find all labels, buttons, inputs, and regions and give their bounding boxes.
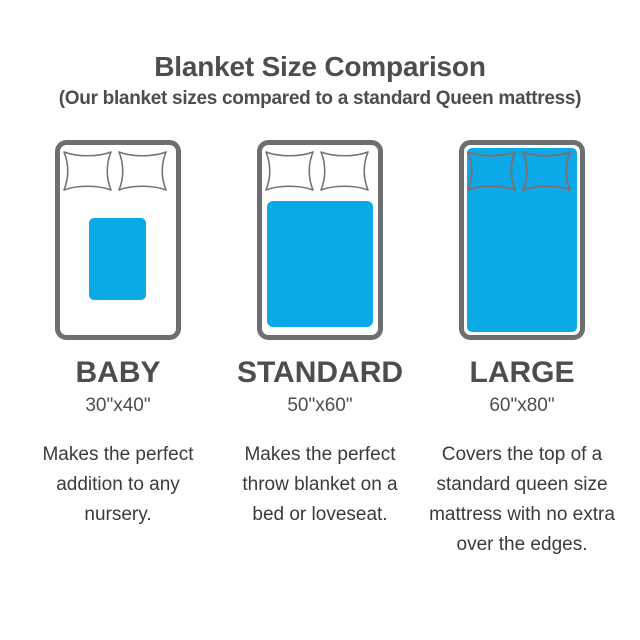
heading-block: Blanket Size Comparison (Our blanket siz… [0,50,640,112]
comparison-columns: BABY 30"x40" Makes the perfect addition … [0,140,640,560]
size-description-baby: Makes the perfect addition to any nurser… [23,440,213,530]
pillow-icon-right [321,152,368,190]
size-description-large: Covers the top of a standard queen size … [427,440,617,560]
pillow-icon-right [119,152,166,190]
page-subtitle: (Our blanket sizes compared to a standar… [0,86,640,112]
bed-diagram-baby [55,140,181,340]
bed-diagram-large [459,140,585,340]
pillow-icon-left [266,152,313,190]
size-dimensions-baby: 30"x40" [85,394,150,418]
page-title: Blanket Size Comparison [0,50,640,84]
size-dimensions-large: 60"x80" [489,394,554,418]
size-name-large: LARGE [470,356,575,390]
size-description-standard: Makes the perfect throw blanket on a bed… [225,440,415,530]
bed-diagram-standard [257,140,383,340]
comparison-column-standard: STANDARD 50"x60" Makes the perfect throw… [224,140,416,530]
blanket-overlay-standard [267,201,373,327]
blanket-overlay-baby [89,218,146,300]
blanket-size-comparison-infographic: Blanket Size Comparison (Our blanket siz… [0,0,640,640]
pillow-icon-left [64,152,111,190]
blanket-overlay-large [467,148,577,332]
comparison-column-baby: BABY 30"x40" Makes the perfect addition … [22,140,214,530]
size-dimensions-standard: 50"x60" [287,394,352,418]
comparison-column-large: LARGE 60"x80" Covers the top of a standa… [426,140,618,560]
size-name-standard: STANDARD [237,356,403,390]
size-name-baby: BABY [75,356,160,390]
